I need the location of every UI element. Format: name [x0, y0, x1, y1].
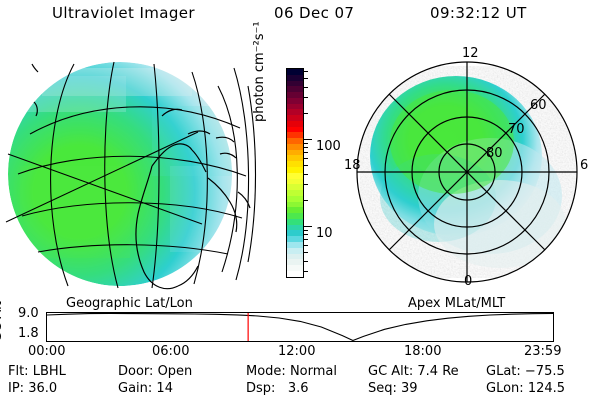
orbit-altitude-trace [47, 313, 553, 341]
status-seq: Seq: 39 [368, 381, 418, 396]
apex-mlat-label-70: 70 [508, 122, 525, 137]
colorbar-tick [304, 226, 312, 227]
colorbar-tick [304, 230, 308, 231]
colorbar-band [287, 271, 303, 277]
gc-alt-tick-high: 9.0 [18, 306, 39, 321]
apex-panel-title: Apex MLat/MLT [408, 296, 505, 311]
colorbar-tick [304, 158, 308, 159]
colorbar-tick [304, 252, 308, 253]
colorbar-tick [304, 97, 308, 98]
colorbar-tick [304, 139, 312, 140]
apex-dial [340, 46, 598, 296]
colorbar-tick [304, 234, 308, 235]
geographic-panel-title: Geographic Lat/Lon [66, 296, 193, 311]
colorbar-tick [304, 113, 308, 114]
intensity-colorbar [286, 68, 304, 278]
uvi-display: Ultraviolet Imager 06 Dec 07 09:32:12 UT [0, 0, 600, 400]
colorbar-tick [304, 239, 308, 240]
colorbar-tick [304, 71, 308, 72]
colorbar-tick [304, 78, 308, 79]
observation-date: 06 Dec 07 [274, 4, 354, 22]
colorbar-tick [304, 200, 308, 201]
observation-time: 09:32:12 UT [430, 4, 527, 22]
status-dsp: Dsp: 3.6 [246, 381, 309, 396]
colorbar-tick [304, 261, 308, 262]
colorbar-tick-label-10: 10 [316, 226, 333, 241]
colorbar-tick [304, 87, 308, 88]
header: Ultraviolet Imager 06 Dec 07 09:32:12 UT [0, 4, 600, 30]
apex-mlat-label-60: 60 [530, 98, 547, 113]
gc-alt-tick-low: 1.8 [18, 326, 39, 341]
apex-mlat-label-80: 80 [486, 146, 503, 161]
status-bar: Flt: LBHL Door: Open Mode: Normal GC Alt… [0, 364, 600, 400]
status-door: Door: Open [118, 364, 192, 379]
status-glat: GLat: −75.5 [486, 364, 565, 379]
colorbar-tick [304, 184, 308, 185]
status-gain: Gain: 14 [118, 381, 173, 396]
apex-image-panel[interactable]: 12 18 6 0 60 70 80 [340, 46, 598, 296]
orbit-altitude-plot[interactable] [46, 312, 554, 342]
colorbar-tick [304, 245, 308, 246]
colorbar-tick [304, 147, 308, 148]
status-gc-alt: GC Alt: 7.4 Re [368, 364, 459, 379]
time-tick-1800: 18:00 [404, 344, 441, 359]
time-tick-0000: 00:00 [28, 344, 65, 359]
time-tick-0600: 06:00 [152, 344, 189, 359]
time-tick-2359: 23:59 [524, 344, 561, 359]
colorbar-tick [304, 152, 308, 153]
apex-mlt-label-0: 0 [464, 274, 472, 289]
status-glon: GLon: 124.5 [486, 381, 565, 396]
geographic-globe [2, 46, 264, 294]
colorbar-tick [304, 165, 308, 166]
apex-mlt-label-6: 6 [580, 158, 588, 173]
status-mode: Mode: Normal [246, 364, 337, 379]
status-flt: Flt: LBHL [8, 364, 66, 379]
geographic-image-panel[interactable] [2, 46, 264, 294]
colorbar-ticks [304, 68, 312, 278]
colorbar-tick [304, 143, 308, 144]
colorbar-tick-label-100: 100 [316, 139, 341, 154]
colorbar-tick [304, 271, 308, 272]
status-ip: IP: 36.0 [8, 381, 57, 396]
apex-mlt-spokes [357, 62, 577, 282]
apex-mlt-label-12: 12 [462, 46, 479, 61]
colorbar-tick [304, 174, 308, 175]
apex-mlt-label-18: 18 [344, 158, 361, 173]
colorbar-axis-title: photon cm⁻²s⁻¹ [252, 0, 267, 122]
instrument-title: Ultraviolet Imager [52, 4, 195, 22]
time-tick-1200: 12:00 [278, 344, 315, 359]
